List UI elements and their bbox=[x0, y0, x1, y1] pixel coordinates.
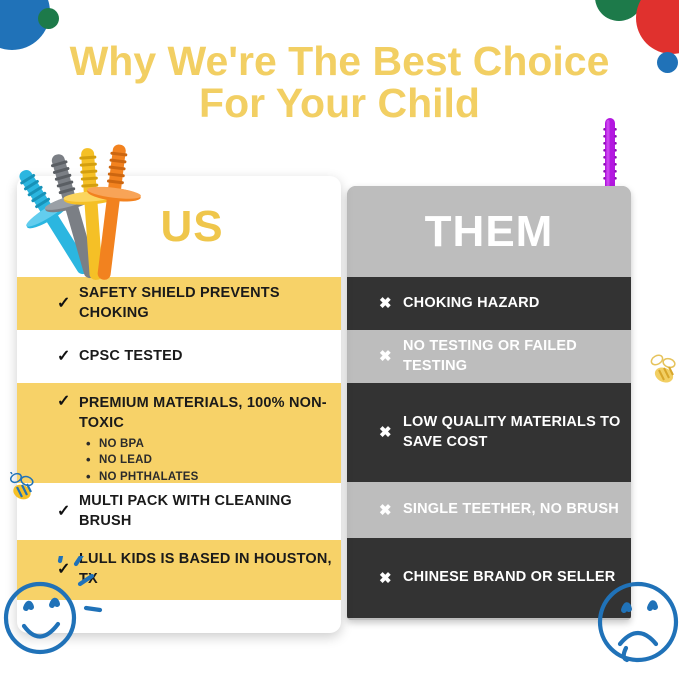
them-row: ✖ SINGLE TEETHER, NO BRUSH bbox=[347, 482, 631, 538]
bee-doodle-icon bbox=[4, 472, 40, 506]
bee-doodle-icon bbox=[645, 352, 679, 388]
us-row-label: CPSC TESTED bbox=[79, 347, 183, 367]
teether-products-icon bbox=[0, 138, 170, 308]
infographic-canvas: Why We're The Best Choice For Your Child bbox=[0, 0, 679, 679]
cross-icon: ✖ bbox=[379, 349, 392, 364]
sublist-item: NO BPA bbox=[85, 436, 341, 452]
us-row: ✓ PREMIUM MATERIALS, 100% NON-TOXIC NO B… bbox=[17, 383, 341, 483]
page-title-line-2: For Your Child bbox=[0, 82, 679, 124]
sublist-item: NO LEAD bbox=[85, 452, 341, 468]
them-row: ✖ CHOKING HAZARD bbox=[347, 277, 631, 330]
them-row: ✖ NO TESTING OR FAILED TESTING bbox=[347, 330, 631, 383]
us-row: ✓ MULTI PACK WITH CLEANING BRUSH bbox=[17, 483, 341, 540]
page-title: Why We're The Best Choice For Your Child bbox=[0, 40, 679, 124]
us-row-label: MULTI PACK WITH CLEANING BRUSH bbox=[79, 492, 341, 531]
check-icon: ✓ bbox=[57, 504, 71, 520]
them-row-label: CHOKING HAZARD bbox=[403, 294, 540, 313]
page-title-line-1: Why We're The Best Choice bbox=[70, 38, 610, 84]
cross-icon: ✖ bbox=[379, 571, 392, 586]
them-heading: THEM bbox=[347, 186, 631, 277]
check-icon: ✓ bbox=[57, 394, 71, 410]
us-row-label: PREMIUM MATERIALS, 100% NON-TOXIC bbox=[79, 395, 327, 431]
check-icon: ✓ bbox=[57, 349, 71, 365]
cross-icon: ✖ bbox=[379, 425, 392, 440]
sad-face-doodle-icon bbox=[588, 570, 679, 675]
us-row-sublist: NO BPA NO LEAD NO PHTHALATES bbox=[85, 436, 341, 485]
happy-face-doodle-icon bbox=[0, 556, 110, 676]
them-row-label: LOW QUALITY MATERIALS TO SAVE COST bbox=[403, 413, 631, 452]
us-row: ✓ CPSC TESTED bbox=[17, 330, 341, 383]
us-row-label: LULL KIDS IS BASED IN HOUSTON, TX bbox=[79, 550, 341, 589]
cross-icon: ✖ bbox=[379, 503, 392, 518]
them-row-label: SINGLE TEETHER, NO BRUSH bbox=[403, 500, 619, 519]
them-column: THEM ✖ CHOKING HAZARD ✖ NO TESTING OR FA… bbox=[347, 186, 631, 620]
them-row-label: NO TESTING OR FAILED TESTING bbox=[403, 337, 631, 376]
them-row-label: CHINESE BRAND OR SELLER bbox=[403, 568, 615, 587]
confetti-circle-green-top-left bbox=[38, 8, 59, 29]
cross-icon: ✖ bbox=[379, 296, 392, 311]
them-row: ✖ LOW QUALITY MATERIALS TO SAVE COST bbox=[347, 383, 631, 482]
